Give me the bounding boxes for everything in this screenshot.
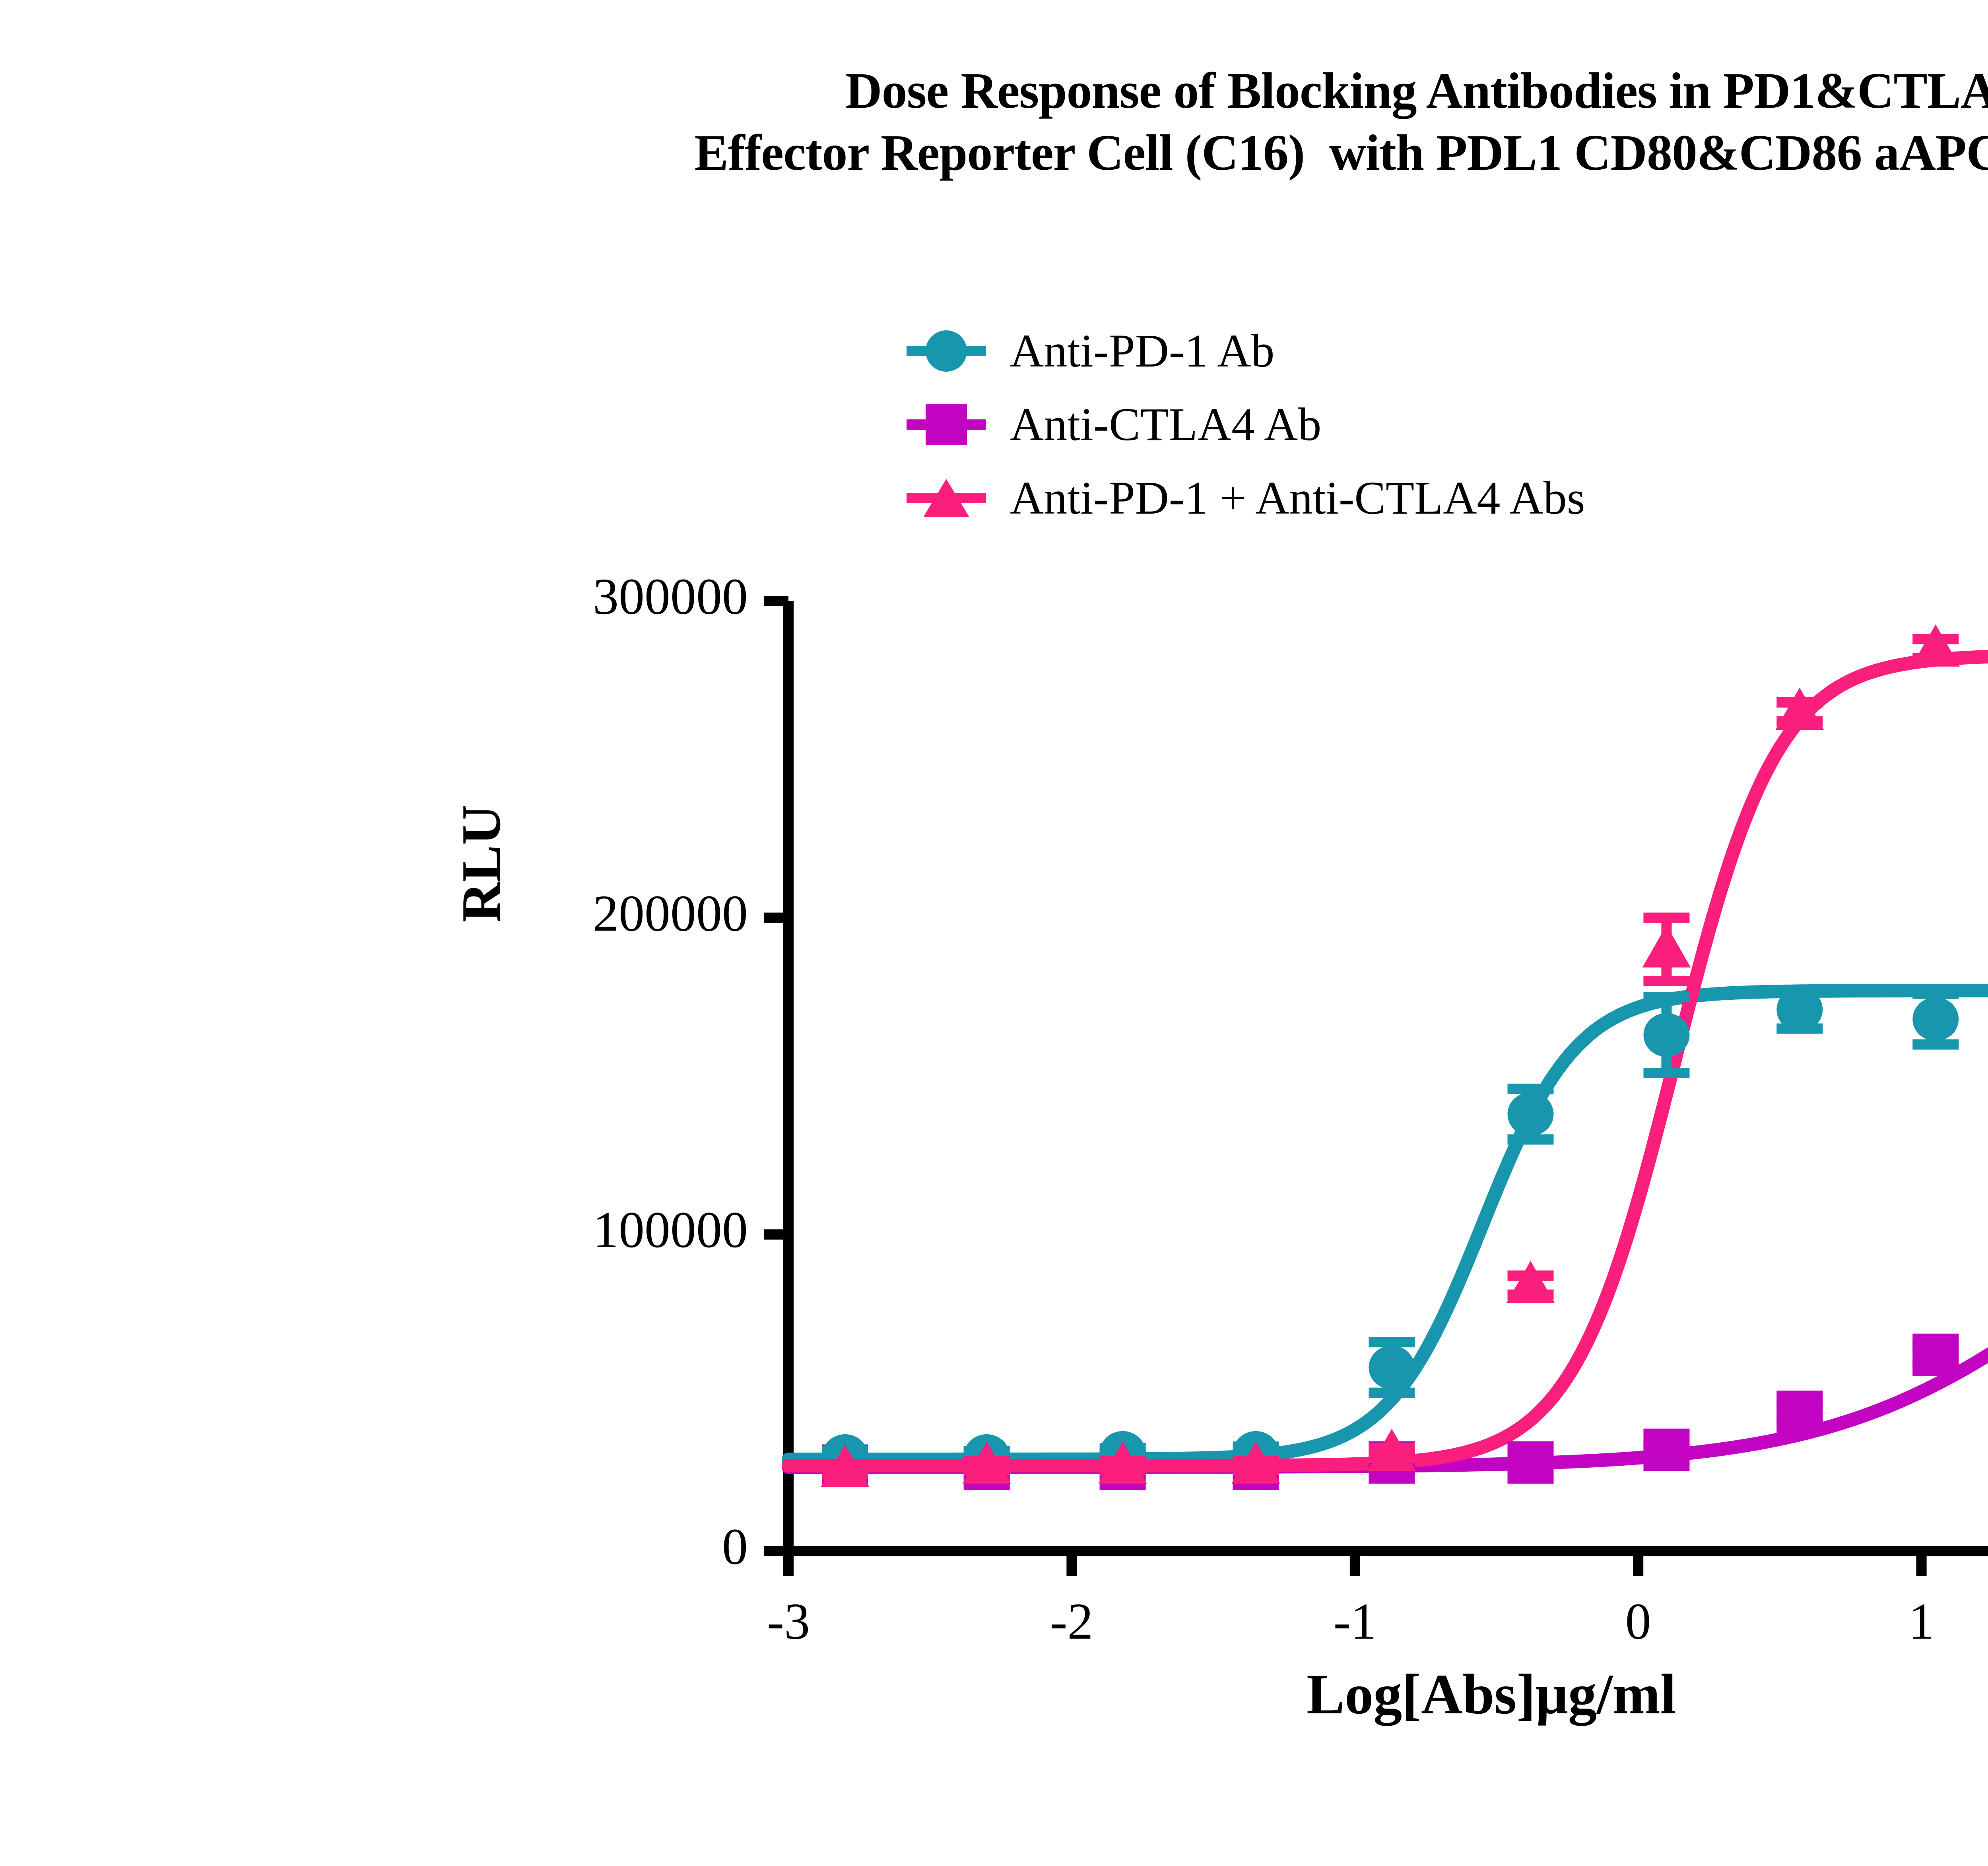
data-point-marker[interactable] xyxy=(1912,997,1959,1041)
data-point-marker[interactable] xyxy=(1643,1013,1689,1057)
data-point-marker[interactable] xyxy=(1911,625,1960,667)
data-point-marker[interactable] xyxy=(1776,1391,1823,1433)
data-point-marker[interactable] xyxy=(1912,1334,1959,1376)
data-point-marker[interactable] xyxy=(1643,1429,1689,1471)
chart-figure: Dose Response of Blocking Antibodies in … xyxy=(0,0,1988,1866)
data-point-marker[interactable] xyxy=(1642,925,1691,967)
data-point-marker[interactable] xyxy=(1776,988,1823,1032)
data-point-marker[interactable] xyxy=(1507,1261,1555,1303)
plot-canvas xyxy=(0,0,1988,1866)
data-point-marker[interactable] xyxy=(1369,1346,1415,1389)
data-point-marker[interactable] xyxy=(1507,1092,1553,1136)
data-point-marker[interactable] xyxy=(1507,1441,1553,1484)
